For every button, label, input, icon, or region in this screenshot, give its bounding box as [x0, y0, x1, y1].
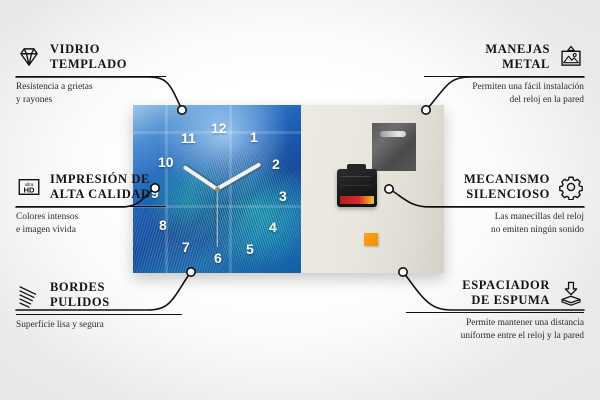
- feature-subtitle: Colores intensos e imagen vívida: [16, 211, 166, 236]
- feature-rule: [16, 206, 166, 208]
- feature-title-line1: MECANISMO: [464, 172, 550, 186]
- feature-espaciador-espuma: ESPACIADOR DE ESPUMA Permite mantener un…: [406, 278, 584, 342]
- feature-rule: [16, 314, 182, 316]
- feature-header: ESPACIADOR DE ESPUMA: [406, 278, 584, 308]
- svg-text:HD: HD: [23, 185, 35, 194]
- second-hand: [216, 189, 217, 247]
- quartz-mechanism-box: [337, 169, 377, 207]
- clock-numeral-4: 4: [269, 220, 277, 234]
- clock-numeral-3: 3: [279, 189, 287, 203]
- feature-header: MANEJAS METAL: [424, 42, 584, 72]
- clock-numeral-12: 12: [211, 121, 227, 135]
- feature-manejas-metal: MANEJAS METAL Permiten una fácil instala…: [424, 42, 584, 106]
- feature-sub-line1: Permite mantener una distancia: [466, 318, 584, 328]
- feature-subtitle: Resistencia a grietas y rayones: [16, 81, 166, 106]
- mechanism-detail: [341, 185, 371, 186]
- feature-subtitle: Permite mantener una distancia uniforme …: [406, 317, 584, 342]
- clock-center-pin: [215, 187, 220, 192]
- feature-title-line2: PULIDOS: [50, 295, 110, 309]
- framed-picture-icon: [558, 44, 584, 70]
- feature-impresion-alta-calidad: ultra HD IMPRESIÓN DE ALTA CALIDAD Color…: [16, 172, 166, 236]
- feature-mecanismo-silencioso: MECANISMO SILENCIOSO Las manecillas del …: [424, 172, 584, 236]
- feature-subtitle: Las manecillas del reloj no emiten ningú…: [424, 211, 584, 236]
- clock-numeral-2: 2: [272, 157, 280, 171]
- feature-sub-line1: Resistencia a grietas: [16, 82, 93, 92]
- diamond-icon: [16, 44, 42, 70]
- feature-header: BORDES PULIDOS: [16, 280, 182, 310]
- feature-sub-line1: Permiten una fácil instalación: [472, 82, 584, 92]
- feature-rule: [424, 76, 584, 78]
- orange-foam-spacer: [364, 233, 378, 246]
- feature-header: VIDRIO TEMPLADO: [16, 42, 166, 72]
- feature-sub-line1: Colores intensos: [16, 212, 78, 222]
- feature-sub-line2: e imagen vívida: [16, 225, 76, 235]
- feature-title: MECANISMO SILENCIOSO: [464, 172, 550, 202]
- feature-sub-line1: Superficie lisa y segura: [16, 320, 104, 330]
- feature-title-line1: BORDES: [50, 280, 105, 294]
- clock-numeral-6: 6: [214, 251, 222, 265]
- clock-numeral-11: 11: [181, 131, 196, 145]
- feature-subtitle: Permiten una fácil instalación del reloj…: [424, 81, 584, 106]
- feature-title: BORDES PULIDOS: [50, 280, 110, 310]
- feature-title-line2: ALTA CALIDAD: [50, 187, 151, 201]
- feature-header: ultra HD IMPRESIÓN DE ALTA CALIDAD: [16, 172, 166, 202]
- hanger-slot: [380, 131, 406, 137]
- clock-numeral-5: 5: [246, 242, 254, 256]
- ultra-hd-icon: ultra HD: [16, 174, 42, 200]
- battery: [340, 196, 374, 204]
- feature-sub-line1: Las manecillas del reloj: [495, 212, 584, 222]
- feature-title: MANEJAS METAL: [485, 42, 550, 72]
- feature-title-line2: TEMPLADO: [50, 57, 127, 71]
- feature-subtitle: Superficie lisa y segura: [16, 319, 182, 331]
- feature-vidrio-templado: VIDRIO TEMPLADO Resistencia a grietas y …: [16, 42, 166, 106]
- product-photo: 12 1 2 3 4 5 6 7 8 9 10 11: [133, 105, 444, 273]
- feature-title: ESPACIADOR DE ESPUMA: [462, 278, 550, 308]
- mechanism-tab: [347, 164, 366, 171]
- feature-rule: [16, 76, 166, 78]
- clock-numeral-7: 7: [182, 240, 190, 254]
- feature-rule: [406, 312, 584, 314]
- feature-title-line2: DE ESPUMA: [471, 293, 550, 307]
- feature-title-line2: METAL: [502, 57, 550, 71]
- feature-bordes-pulidos: BORDES PULIDOS Superficie lisa y segura: [16, 280, 182, 332]
- feature-title-line2: SILENCIOSO: [466, 187, 550, 201]
- clock-back-panel: [301, 105, 444, 273]
- clock-numeral-10: 10: [158, 155, 174, 169]
- feature-rule: [424, 206, 584, 208]
- polished-edges-icon: [16, 282, 42, 308]
- mechanism-detail: [341, 176, 371, 177]
- clock-numeral-1: 1: [250, 130, 258, 144]
- feature-sub-line2: y rayones: [16, 95, 52, 105]
- feature-sub-line2: del reloj en la pared: [510, 95, 584, 105]
- foam-spacer-icon: [558, 280, 584, 306]
- feature-title-line1: MANEJAS: [485, 42, 550, 56]
- gear-icon: [558, 174, 584, 200]
- feature-header: MECANISMO SILENCIOSO: [424, 172, 584, 202]
- feature-title-line1: VIDRIO: [50, 42, 100, 56]
- feature-sub-line2: uniforme entre el reloj y la pared: [461, 331, 584, 341]
- infographic-canvas: 12 1 2 3 4 5 6 7 8 9 10 11: [0, 0, 600, 400]
- feature-sub-line2: no emiten ningún sonido: [491, 225, 584, 235]
- feature-title-line1: IMPRESIÓN DE: [50, 172, 150, 186]
- feature-title: IMPRESIÓN DE ALTA CALIDAD: [50, 172, 151, 202]
- feature-title: VIDRIO TEMPLADO: [50, 42, 127, 72]
- metal-hanger-plate: [372, 123, 416, 171]
- feature-title-line1: ESPACIADOR: [462, 278, 550, 292]
